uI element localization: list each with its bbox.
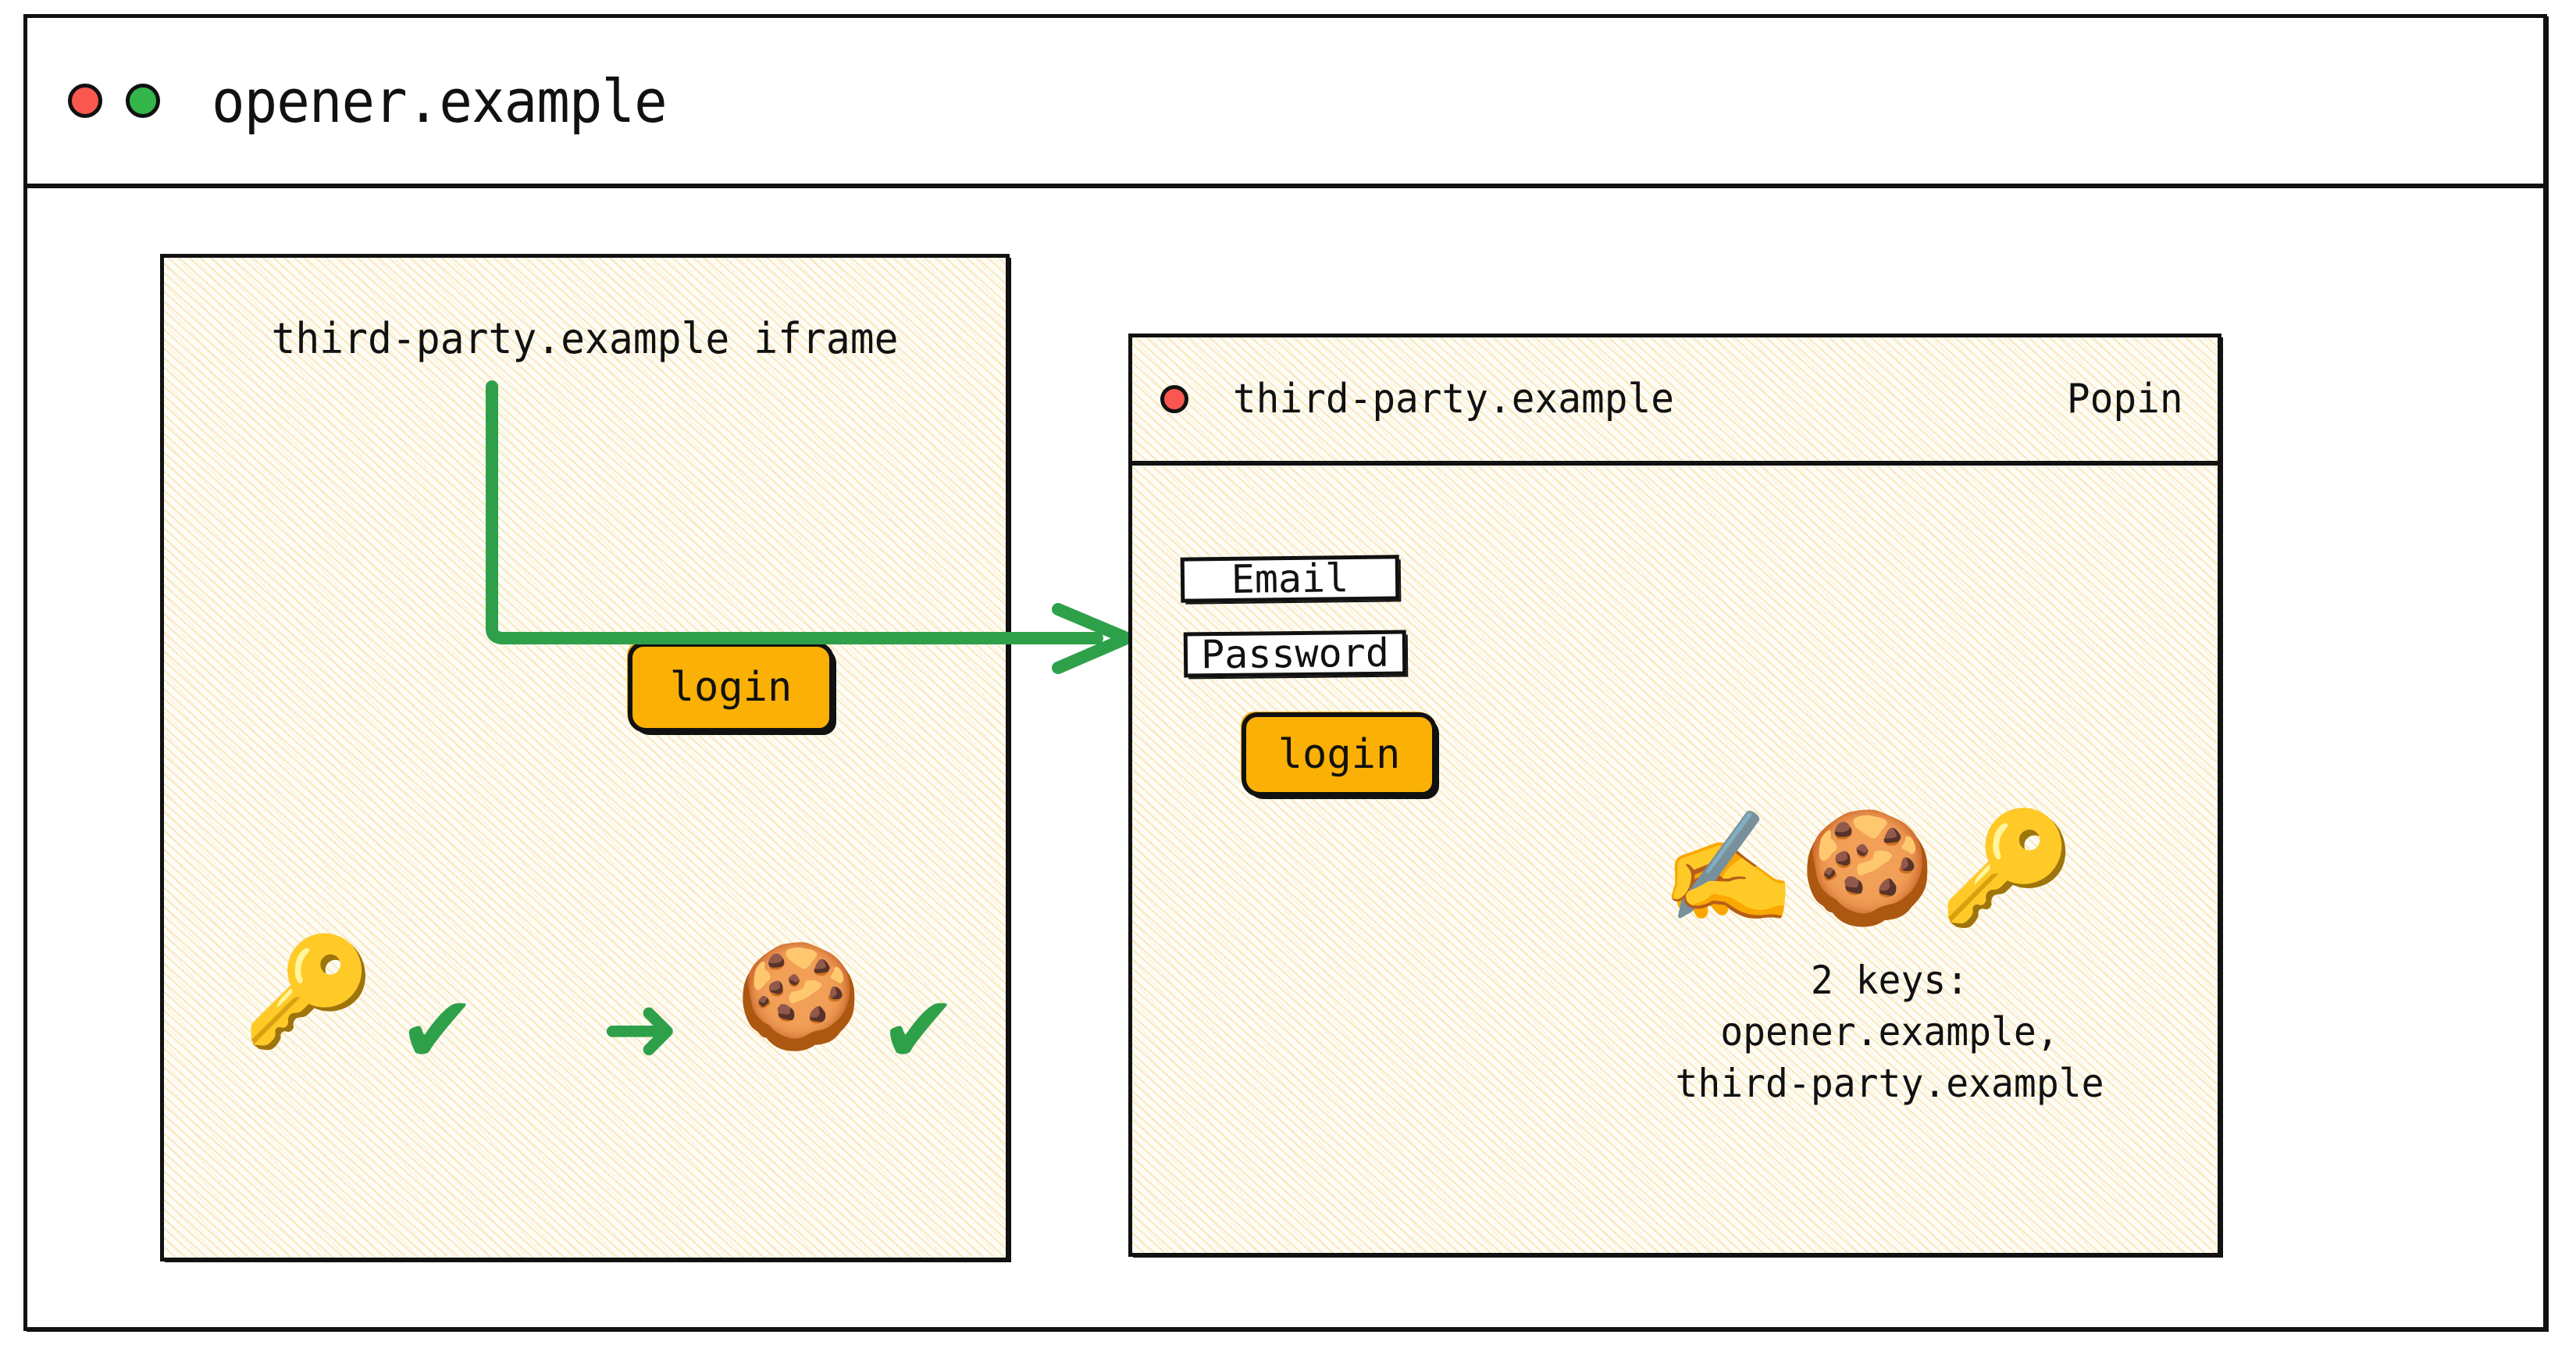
signin-cookie-key-icon-row: ✍️🍪🔑 bbox=[1660, 814, 2078, 923]
cookie-allowed-check-icon: ✔ bbox=[879, 984, 958, 1078]
popup-kind-label: Popin bbox=[2067, 376, 2183, 423]
key-to-cookie-arrow-icon: ➜ bbox=[601, 983, 680, 1076]
popup-close-dot-icon[interactable] bbox=[1160, 385, 1188, 413]
keys-note: 2 keys: opener.example, third-party.exam… bbox=[1605, 955, 2175, 1109]
password-field[interactable]: Password bbox=[1184, 630, 1407, 678]
iframe-login-button[interactable]: login bbox=[628, 642, 834, 733]
window-titlebar: opener.example bbox=[27, 18, 2543, 188]
popup-window: third-party.example Popin Email Password… bbox=[1128, 334, 2221, 1257]
maximize-dot-icon[interactable] bbox=[126, 84, 160, 118]
third-party-iframe-panel: third-party.example iframe login 🔑 ✔ ➜ 🍪… bbox=[160, 254, 1010, 1261]
close-dot-icon[interactable] bbox=[68, 84, 102, 118]
window-title: opener.example bbox=[212, 66, 667, 136]
keys-note-line-1: 2 keys: bbox=[1605, 955, 2175, 1006]
popup-origin-label: third-party.example bbox=[1233, 376, 1674, 423]
browser-window: opener.example third-party.example ifram… bbox=[23, 14, 2547, 1331]
keys-note-line-2: opener.example, bbox=[1605, 1006, 2175, 1058]
key-allowed-check-icon: ✔ bbox=[398, 984, 477, 1078]
key-icon: 🔑 bbox=[242, 939, 374, 1045]
keys-note-line-3: third-party.example bbox=[1605, 1058, 2175, 1109]
email-field[interactable]: Email bbox=[1181, 555, 1400, 602]
popup-titlebar: third-party.example Popin bbox=[1132, 337, 2218, 466]
iframe-label: third-party.example iframe bbox=[185, 314, 985, 363]
popup-login-button[interactable]: login bbox=[1242, 712, 1437, 797]
cookie-icon: 🍪 bbox=[736, 945, 862, 1047]
